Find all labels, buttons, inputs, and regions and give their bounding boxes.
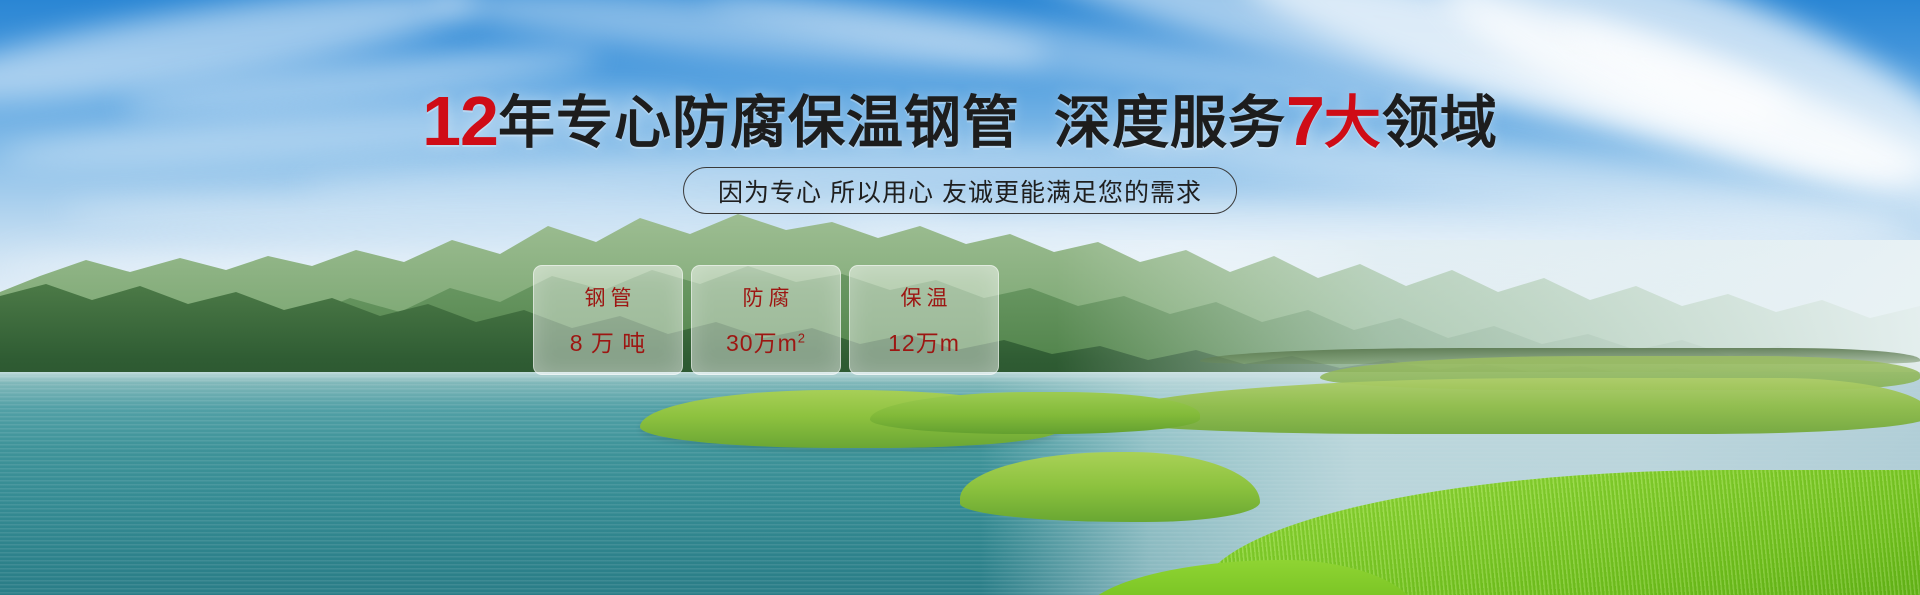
stat-card-anticorrosion[interactable]: 防腐 30万m2 — [691, 265, 841, 375]
headline-years-number: 12 — [422, 82, 498, 160]
hero-banner: 12年专心防腐保温钢管深度服务7大领域 因为专心 所以用心 友诚更能满足您的需求… — [0, 0, 1920, 595]
stat-value-superscript: 2 — [798, 330, 806, 345]
headline-part-four: 领域 — [1382, 91, 1498, 155]
banner-subtitle-pill: 因为专心 所以用心 友诚更能满足您的需求 — [683, 167, 1237, 214]
stat-card-row: 钢管 8 万 吨 防腐 30万m2 保温 12万m — [533, 265, 999, 375]
banner-subtitle-text: 因为专心 所以用心 友诚更能满足您的需求 — [718, 173, 1202, 209]
stat-value: 8 万 吨 — [570, 324, 647, 358]
stat-label: 钢管 — [580, 282, 637, 312]
stat-value-text: 8 万 吨 — [570, 330, 647, 356]
cloud-icon — [429, 0, 1052, 83]
banner-headline: 12年专心防腐保温钢管深度服务7大领域 — [0, 86, 1920, 156]
headline-fields-number: 7 — [1286, 82, 1324, 160]
stat-label: 保温 — [896, 282, 953, 312]
stat-card-steel-pipe[interactable]: 钢管 8 万 吨 — [533, 265, 683, 375]
stat-card-insulation[interactable]: 保温 12万m — [849, 265, 999, 375]
headline-part-two: 深度服务 — [1054, 91, 1286, 155]
headline-part-one: 年专心防腐保温钢管 — [498, 91, 1020, 155]
stat-value-text: 12万m — [888, 330, 960, 356]
stat-label: 防腐 — [738, 282, 795, 312]
stat-value: 30万m2 — [726, 324, 806, 358]
stat-value-text: 30万m — [726, 330, 798, 356]
headline-part-three: 大 — [1324, 91, 1382, 155]
stat-value: 12万m — [888, 324, 960, 358]
